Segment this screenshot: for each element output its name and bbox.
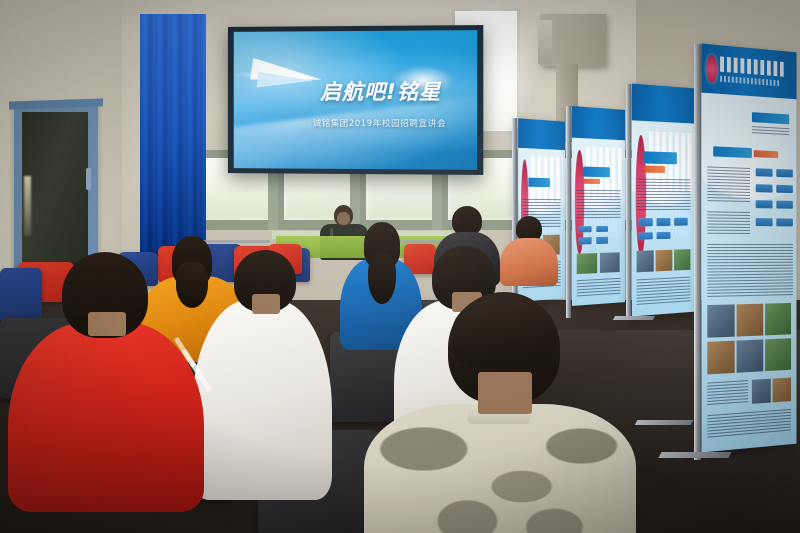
poster-stand-brace — [635, 420, 694, 425]
slide-subtitle: 诚铭集团2019年校园招聘宣讲会 — [285, 117, 476, 129]
poster-stand-pole — [626, 84, 631, 316]
audience-torso — [500, 238, 558, 286]
door-handle[interactable] — [86, 168, 91, 190]
projection-screen: 启航吧!铭星 诚铭集团2019年校园招聘宣讲会 — [234, 30, 477, 170]
presenter-face — [337, 212, 350, 225]
audience-torso — [8, 322, 204, 512]
audience-neck — [88, 312, 126, 336]
poster-stand-pole — [566, 106, 571, 318]
audience-hair — [452, 296, 556, 368]
door[interactable] — [22, 112, 88, 282]
slide-title: 启航吧!铭星 — [320, 81, 471, 103]
poster-board[interactable] — [701, 43, 796, 452]
audience-neck — [252, 294, 280, 314]
door-light-reflection — [24, 176, 31, 236]
audience-torso — [192, 300, 332, 500]
poster-stand-pole — [694, 44, 701, 460]
audience-hair — [176, 262, 208, 308]
poster-board[interactable] — [572, 106, 625, 306]
photo-scene: 启航吧!铭星 诚铭集团2019年校园招聘宣讲会 — [0, 0, 800, 533]
curtain-shading — [140, 14, 206, 272]
poster-stand-foot — [658, 452, 731, 458]
audience-neck — [478, 372, 532, 414]
wall-speaker-face — [538, 20, 552, 64]
poster-board[interactable] — [632, 84, 695, 317]
poster-stand-foot — [613, 316, 655, 320]
poster-section-title — [713, 146, 752, 158]
poster-section-pinyin — [754, 151, 778, 158]
chair[interactable] — [0, 268, 42, 322]
paper-airplane-icon — [251, 59, 324, 101]
audience-hair — [368, 252, 396, 304]
